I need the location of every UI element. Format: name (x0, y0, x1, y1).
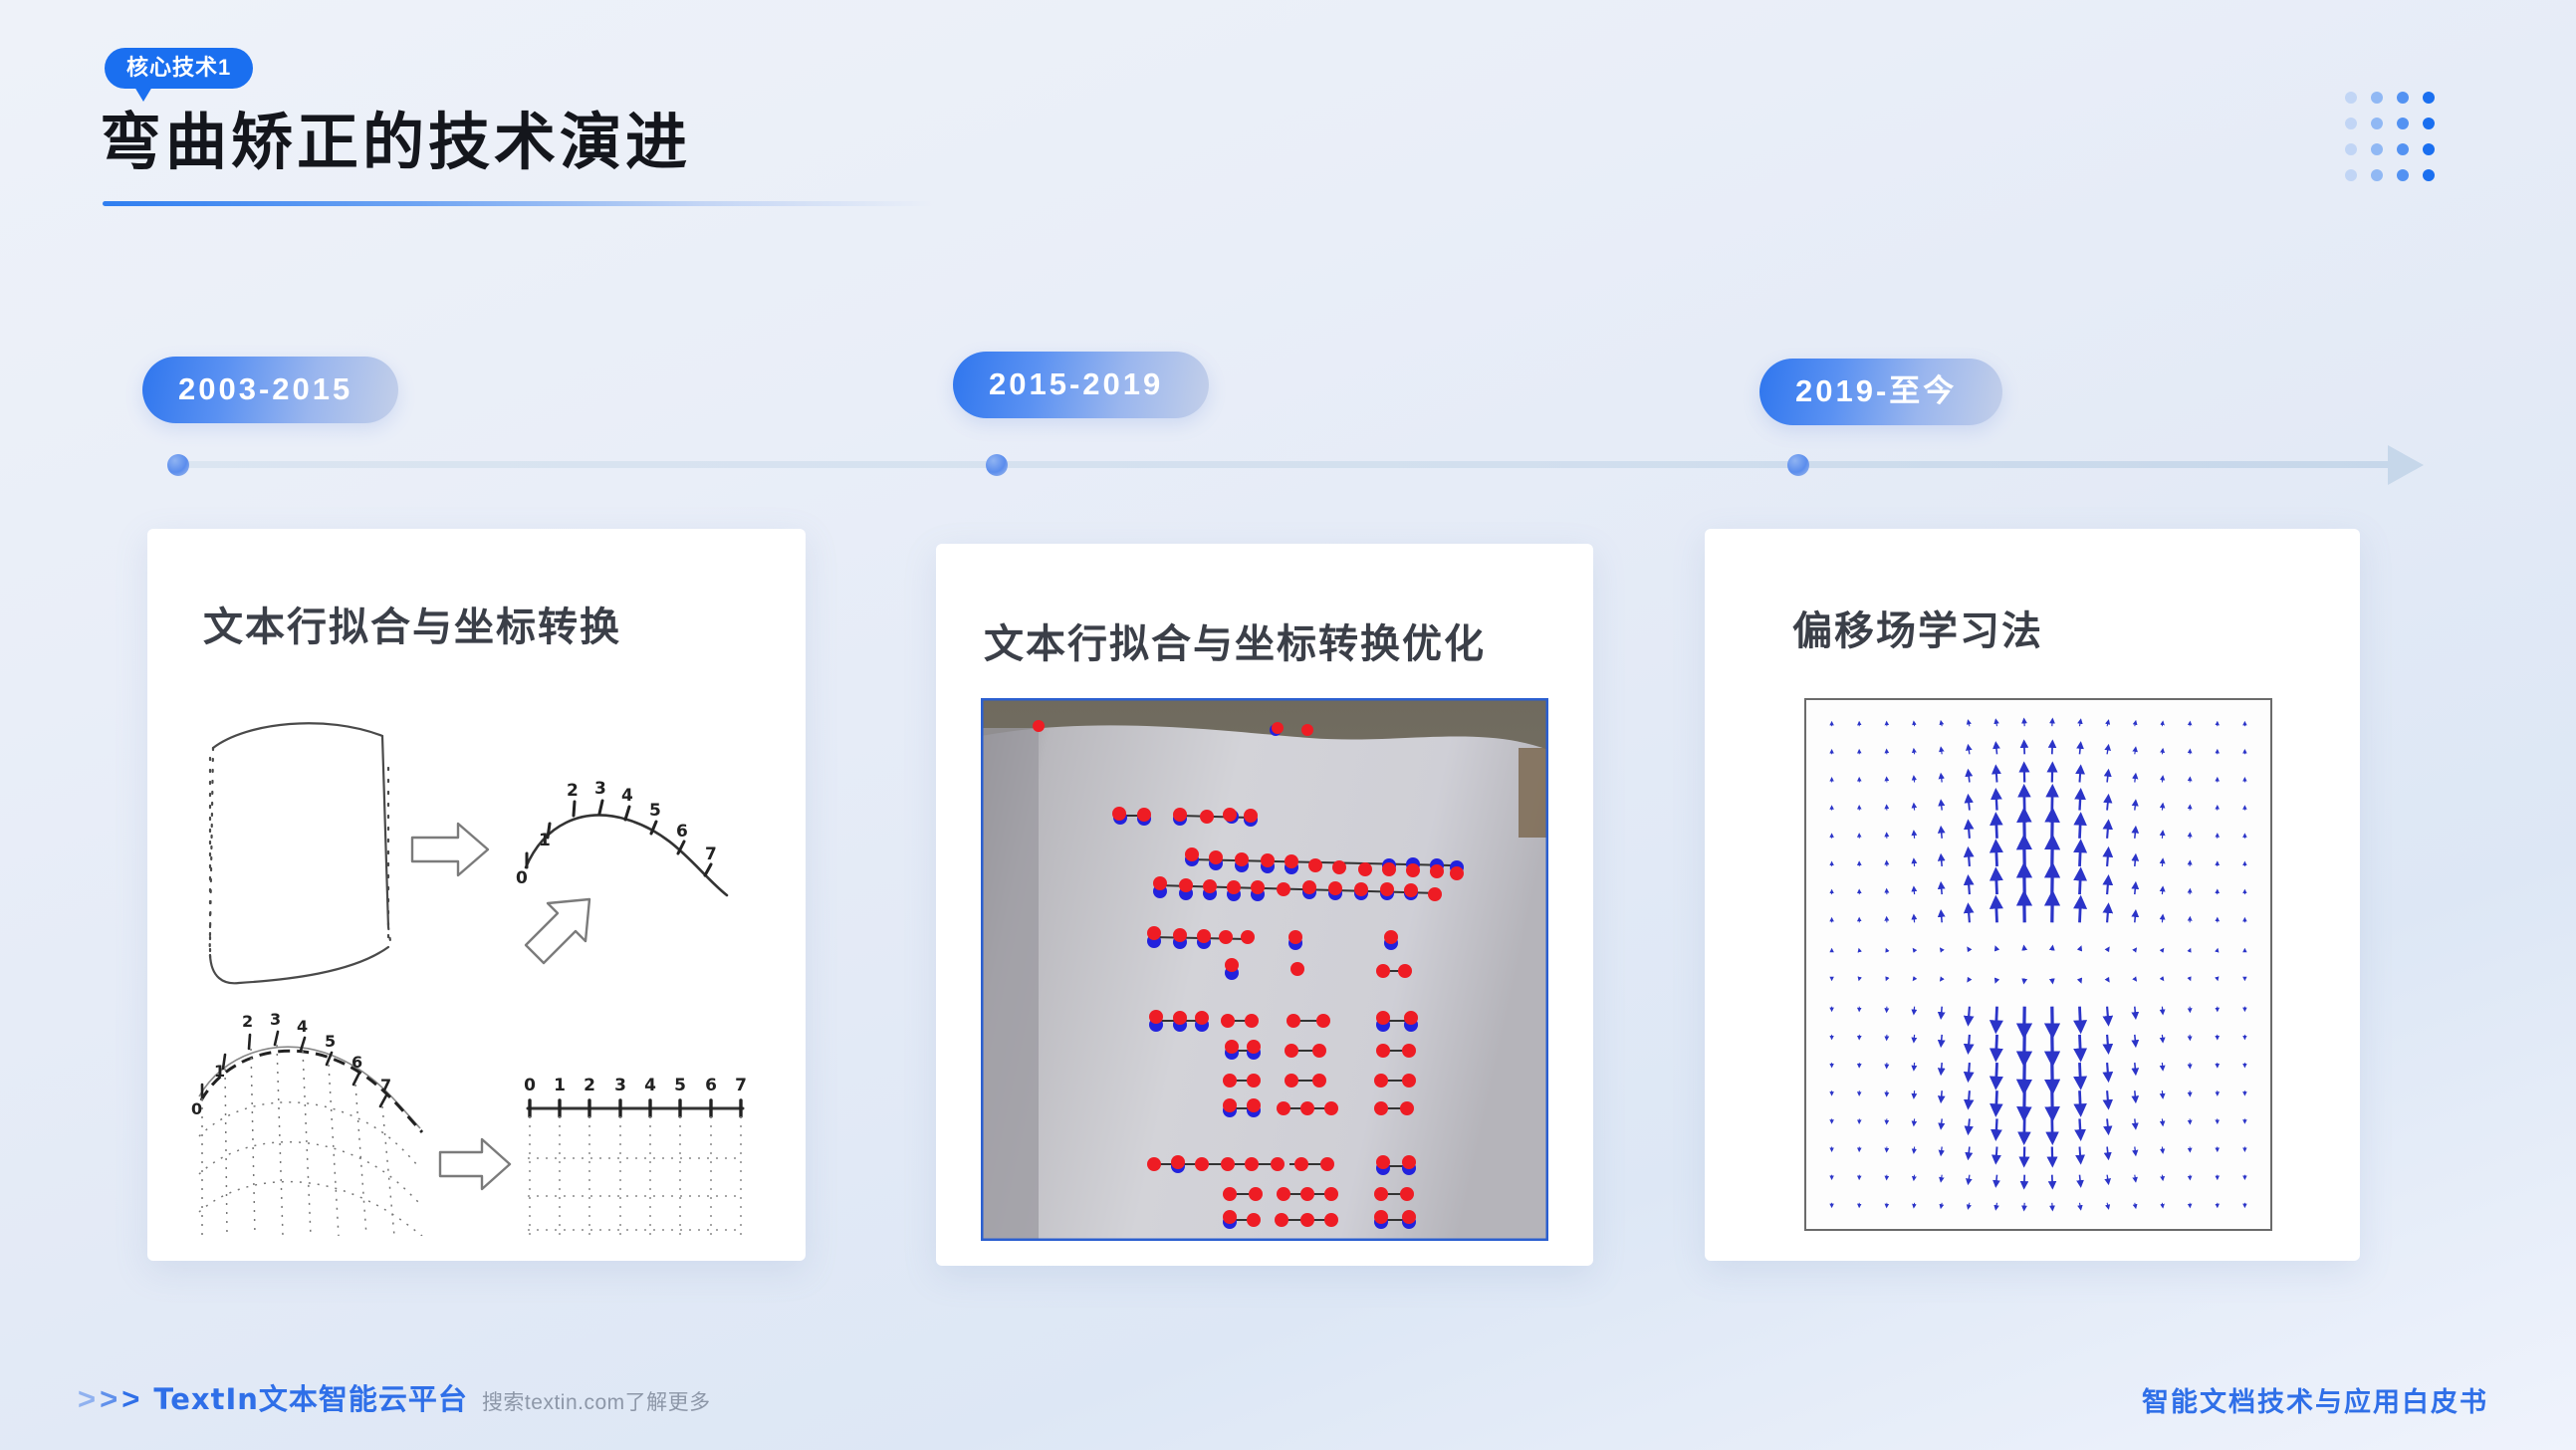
svg-text:0: 0 (191, 1099, 202, 1118)
svg-text:2: 2 (567, 781, 579, 801)
page-title: 弯曲矫正的技术演进 (100, 92, 691, 181)
timeline-node-0[interactable]: 2003-2015 (142, 357, 398, 423)
curved-page-keypoints-photo (981, 698, 1548, 1241)
chevron-icon-2: > (100, 1383, 117, 1414)
svg-text:4: 4 (297, 1017, 308, 1036)
timeline-pill-label-1: 2015-2019 (953, 352, 1209, 418)
footer-doc-title: 智能文档技术与应用白皮书 (2142, 1380, 2488, 1419)
timeline-track (175, 461, 2396, 468)
svg-text:7: 7 (380, 1076, 391, 1094)
svg-text:6: 6 (351, 1053, 362, 1072)
chevrons-icon: > > > (78, 1383, 139, 1414)
footer-brand: TextIn文本智能云平台 (153, 1376, 468, 1418)
arrow-right-icon (2388, 445, 2424, 485)
footer-brand-group: > > > TextIn文本智能云平台 搜索textin.com了解更多 (78, 1376, 711, 1418)
card-3-title: 偏移场学习法 (1792, 599, 2043, 656)
timeline-node-2[interactable]: 2019-至今 (1759, 359, 2002, 425)
card-3[interactable]: 偏移场学习法 (1705, 529, 2360, 1261)
section-badge: 核心技术1 (105, 48, 253, 89)
svg-text:4: 4 (621, 786, 633, 806)
text-line-fitting-diagram: 0 1 2 3 4 5 6 7 (177, 698, 775, 1236)
svg-text:5: 5 (325, 1032, 336, 1051)
timeline-marker-2 (1787, 454, 1809, 476)
svg-text:5: 5 (674, 1076, 686, 1095)
timeline-marker-1 (986, 454, 1008, 476)
offset-field-vector-plot (1804, 698, 2272, 1231)
section-badge-label: 核心技术1 (105, 48, 253, 89)
svg-text:6: 6 (705, 1076, 717, 1095)
svg-text:7: 7 (705, 845, 717, 864)
slide-root: 核心技术1 弯曲矫正的技术演进 2003-2015 2015-2019 2019… (0, 0, 2576, 1450)
svg-text:2: 2 (242, 1012, 253, 1031)
card-1[interactable]: 文本行拟合与坐标转换 (147, 529, 806, 1261)
card-2-title: 文本行拟合与坐标转换优化 (984, 611, 1486, 669)
card-1-title: 文本行拟合与坐标转换 (203, 595, 621, 652)
svg-text:5: 5 (649, 801, 661, 821)
svg-text:1: 1 (554, 1076, 566, 1095)
svg-text:0: 0 (516, 868, 528, 888)
chevron-icon-3: > (121, 1383, 139, 1414)
svg-text:1: 1 (539, 831, 551, 850)
svg-text:3: 3 (614, 1076, 626, 1095)
svg-text:3: 3 (594, 779, 606, 799)
svg-text:2: 2 (584, 1076, 595, 1095)
timeline-node-1[interactable]: 2015-2019 (953, 352, 1209, 418)
svg-text:6: 6 (676, 822, 688, 842)
svg-text:4: 4 (644, 1076, 656, 1095)
dot-grid-icon (2345, 92, 2449, 195)
title-underline (103, 201, 934, 206)
svg-text:7: 7 (735, 1076, 747, 1095)
timeline-marker-0 (167, 454, 189, 476)
chevron-icon-1: > (78, 1383, 96, 1414)
timeline-pill-label-2: 2019-至今 (1759, 359, 2002, 425)
svg-text:3: 3 (270, 1010, 281, 1029)
svg-text:0: 0 (524, 1076, 536, 1095)
footer-brand-sub: 搜索textin.com了解更多 (482, 1386, 711, 1416)
card-2[interactable]: 文本行拟合与坐标转换优化 (936, 544, 1593, 1266)
svg-text:1: 1 (214, 1062, 225, 1081)
timeline-pill-label-0: 2003-2015 (142, 357, 398, 423)
footer: > > > TextIn文本智能云平台 搜索textin.com了解更多 智能文… (0, 1354, 2576, 1450)
